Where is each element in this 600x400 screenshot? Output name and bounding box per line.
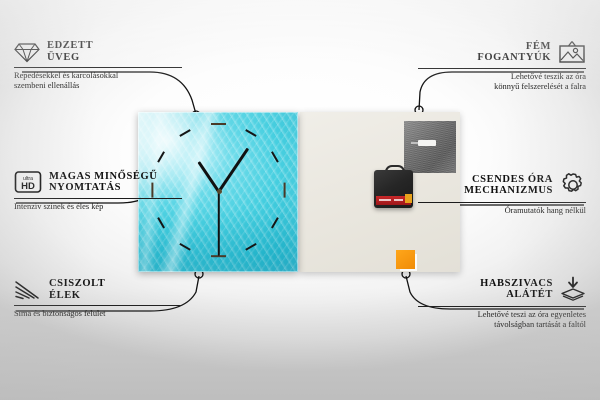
battery-plus-marker (405, 194, 412, 203)
callout-divider (14, 305, 182, 306)
label-bar (379, 199, 391, 201)
callout-title: CSISZOLT ÉLEK (49, 278, 105, 301)
callout-title: FÉM FOGANTYÚK (477, 41, 551, 64)
callout-head: FÉM FOGANTYÚK (418, 40, 586, 64)
callout-habszivacs-alatet[interactable]: HABSZIVACS ALÁTÉT Lehetővé teszi az óra … (418, 276, 586, 330)
callout-divider (418, 306, 586, 307)
callout-magas-minosegu-nyomtatas[interactable]: ultra HD MAGAS MINŐSÉGŰ NYOMTATÁS Intenz… (14, 170, 182, 212)
diamond-icon (14, 41, 40, 63)
callout-head: ultra HD MAGAS MINŐSÉGŰ NYOMTATÁS (14, 170, 182, 194)
callout-divider (14, 198, 182, 199)
callout-title: EDZETT ÜVEG (47, 40, 93, 63)
callout-title: HABSZIVACS ALÁTÉT (480, 278, 553, 301)
callout-divider (418, 68, 586, 69)
clock-tick (211, 123, 226, 125)
callout-description: Lehetővé teszi az óra egyenletes távolsá… (418, 310, 586, 330)
callout-head: CSENDES ÓRA MECHANIZMUS (418, 172, 586, 198)
infographic-canvas: EDZETT ÜVEG Repedésekkel és karcolásokka… (0, 0, 600, 400)
callout-divider (14, 67, 182, 68)
foam-spacer-pad (396, 250, 415, 269)
callout-head: CSISZOLT ÉLEK (14, 278, 182, 301)
callout-head: HABSZIVACS ALÁTÉT (418, 276, 586, 302)
clock-center-cap (217, 189, 222, 194)
label-bar (394, 199, 403, 201)
foam-pad-arrow-icon (560, 276, 586, 302)
callout-divider (418, 202, 586, 203)
callout-description: Óramutatók hang nélkül (418, 206, 586, 216)
gear-icon (560, 172, 586, 198)
metal-hanger-plate (404, 121, 456, 173)
callout-edzett-uveg[interactable]: EDZETT ÜVEG Repedésekkel és karcolásokka… (14, 40, 182, 91)
clock-tick (283, 182, 285, 197)
callout-description: Sima és biztonságos felület (14, 309, 182, 319)
callout-description: Lehetővé teszik az óra könnyű felszerelé… (418, 72, 586, 92)
svg-text:HD: HD (21, 181, 35, 192)
second-hand (218, 192, 220, 256)
callout-description: Intenzív színek és éles kép (14, 202, 182, 212)
hanger-plate-slot (418, 140, 436, 146)
callout-fem-fogantyuk[interactable]: FÉM FOGANTYÚK Lehetővé teszik az óra kön… (418, 40, 586, 92)
callout-title: MAGAS MINŐSÉGŰ NYOMTATÁS (49, 171, 157, 194)
callout-csendes-ora-mechanizmus[interactable]: CSENDES ÓRA MECHANIZMUS Óramutatók hang … (418, 172, 586, 216)
polished-edges-icon (14, 279, 42, 301)
ultra-hd-icon: ultra HD (14, 170, 42, 194)
picture-hanger-icon (558, 40, 586, 64)
callout-title: CSENDES ÓRA MECHANIZMUS (464, 174, 553, 197)
callout-description: Repedésekkel és karcolásokkal szembeni e… (14, 71, 182, 91)
callout-csiszolt-elek[interactable]: CSISZOLT ÉLEK Sima és biztonságos felüle… (14, 278, 182, 319)
callout-head: EDZETT ÜVEG (14, 40, 182, 63)
